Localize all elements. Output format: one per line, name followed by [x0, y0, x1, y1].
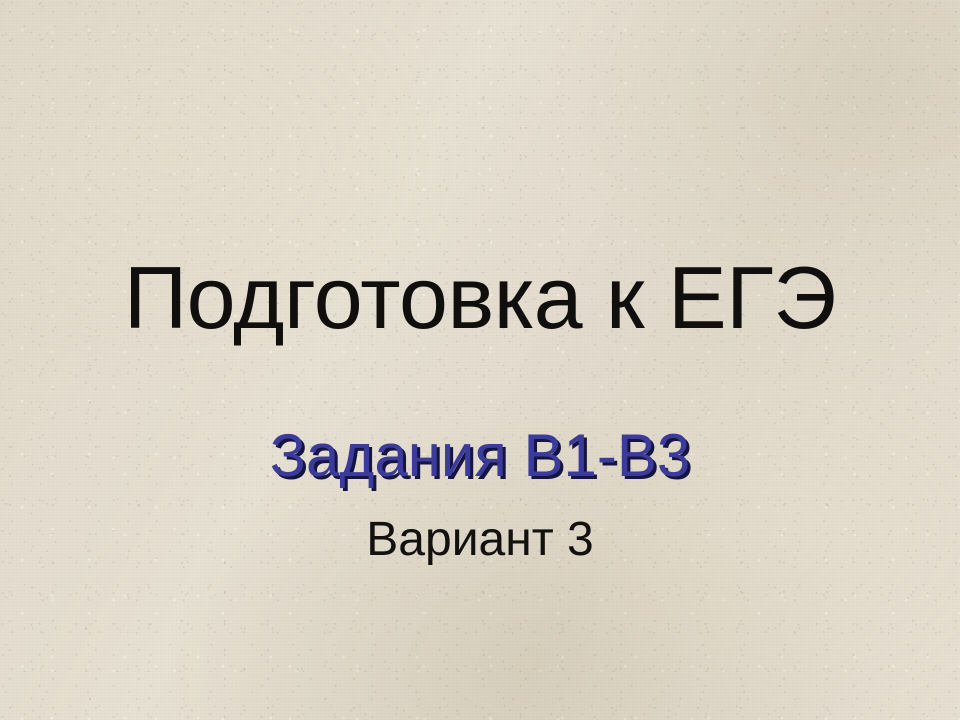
slide-title: Подготовка к ЕГЭ	[0, 252, 960, 344]
slide-variant-label: Вариант 3	[0, 515, 960, 565]
slide-content: Подготовка к ЕГЭ Задания В1-В3 Вариант 3	[0, 0, 960, 720]
slide-subtitle: Задания В1-В3	[0, 424, 960, 487]
presentation-slide: Подготовка к ЕГЭ Задания В1-В3 Вариант 3	[0, 0, 960, 720]
